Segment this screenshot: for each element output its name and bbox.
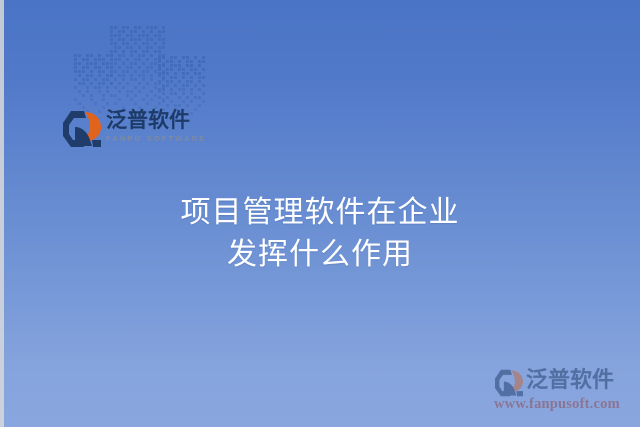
page-title: 项目管理软件在企业 发挥什么作用 (0, 192, 640, 276)
promo-banner: 泛普软件 FANPU SOFTWARE 项目管理软件在企业 发挥什么作用 泛普软… (0, 0, 640, 427)
fanpu-logo-mark (62, 110, 102, 148)
left-tower (74, 54, 102, 114)
fanpu-logo-text: 泛普软件 FANPU SOFTWARE (106, 108, 196, 144)
right-tower (158, 56, 192, 114)
fanpu-logo-en-name: FANPU SOFTWARE (106, 133, 196, 144)
watermark: 泛普软件 www.fanpusoft.com (494, 366, 640, 420)
watermark-cn-name: 泛普软件 (526, 366, 614, 394)
page-title-line-1: 项目管理软件在企业 (0, 192, 640, 234)
page-title-line-2: 发挥什么作用 (0, 234, 640, 276)
fanpu-watermark-mark (494, 369, 524, 397)
watermark-url: www.fanpusoft.com (494, 396, 620, 413)
fanpu-logo-cn-name: 泛普软件 (106, 108, 196, 133)
pixel-skyline-icon (74, 22, 198, 114)
center-tower (110, 26, 150, 114)
fanpu-logo: 泛普软件 FANPU SOFTWARE (62, 108, 194, 154)
